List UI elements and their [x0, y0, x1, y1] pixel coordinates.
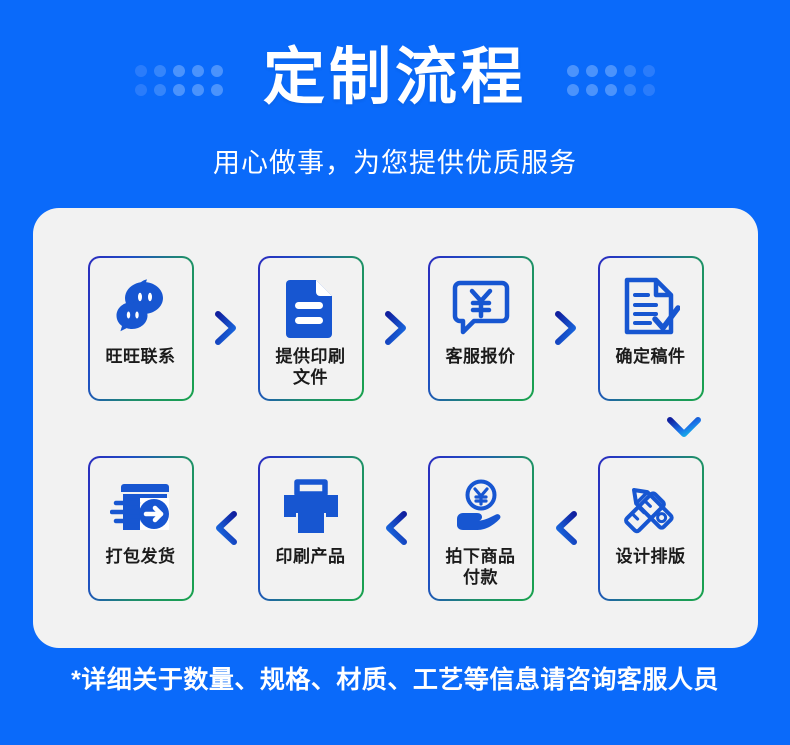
quote-bubble-yen-icon — [452, 274, 510, 340]
promo-banner: 定制流程 用心做事，为您提供优质服务 — [0, 0, 790, 745]
package-shipping-icon — [110, 474, 172, 540]
chevron-left-icon — [553, 511, 579, 545]
document-icon — [284, 274, 338, 340]
flow-step-quote[interactable]: 客服报价 — [428, 256, 534, 401]
flow-step-label: 旺旺联系 — [106, 346, 176, 367]
flow-separator-1 — [194, 256, 258, 401]
header-section: 定制流程 用心做事，为您提供优质服务 — [0, 0, 790, 200]
flow-step-label: 印刷产品 — [276, 546, 346, 567]
chevron-right-icon — [553, 311, 579, 345]
chevron-down-icon — [666, 415, 702, 441]
page-subtitle: 用心做事，为您提供优质服务 — [0, 141, 790, 180]
decorative-dot-grid-left — [135, 65, 223, 96]
flow-separator-4 — [194, 456, 258, 601]
printer-icon — [280, 474, 342, 540]
title-row: 定制流程 — [0, 20, 790, 135]
decorative-dot-grid-right — [567, 65, 655, 96]
flow-step-label: 提供印刷 文件 — [276, 346, 346, 389]
flow-row-2: 打包发货 — [33, 453, 758, 603]
flow-step-packing-shipping[interactable]: 打包发货 — [88, 456, 194, 601]
flow-step-inner: 拍下商品 付款 — [430, 458, 532, 599]
flow-step-inner: 客服报价 — [430, 258, 532, 399]
flow-step-print-product[interactable]: 印刷产品 — [258, 456, 364, 601]
flow-step-inner: 确定稿件 — [600, 258, 702, 399]
chevron-right-icon — [213, 311, 239, 345]
chevron-left-icon — [383, 511, 409, 545]
flow-panel: 旺旺联系 — [33, 208, 758, 648]
flow-step-wangwang[interactable]: 旺旺联系 — [88, 256, 194, 401]
flow-step-inner: 旺旺联系 — [90, 258, 192, 399]
chevron-right-icon — [383, 311, 409, 345]
flow-step-inner: 印刷产品 — [260, 458, 362, 599]
flow-step-label: 设计排版 — [616, 546, 686, 567]
flow-step-design-layout[interactable]: 设计排版 — [598, 456, 704, 601]
wangwang-chat-icon — [110, 274, 172, 340]
flow-step-label: 确定稿件 — [616, 346, 686, 367]
flow-step-label: 打包发货 — [106, 546, 176, 567]
flow-step-inner: 提供印刷 文件 — [260, 258, 362, 399]
flow-step-place-order-payment[interactable]: 拍下商品 付款 — [428, 456, 534, 601]
flow-separator-2 — [364, 256, 428, 401]
flow-row-1: 旺旺联系 — [33, 253, 758, 403]
flow-step-confirm-draft[interactable]: 确定稿件 — [598, 256, 704, 401]
flow-separator-down — [631, 403, 737, 453]
chevron-left-icon — [213, 511, 239, 545]
pencil-ruler-icon — [621, 474, 681, 540]
flow-step-provide-files[interactable]: 提供印刷 文件 — [258, 256, 364, 401]
flow-step-label: 客服报价 — [446, 346, 516, 367]
footer-note: *详细关于数量、规格、材质、工艺等信息请咨询客服人员 — [0, 660, 790, 696]
flow-step-inner: 设计排版 — [600, 458, 702, 599]
flow-separator-6 — [534, 456, 598, 601]
flow-step-label: 拍下商品 付款 — [446, 546, 516, 589]
document-check-icon — [622, 274, 680, 340]
flow-step-inner: 打包发货 — [90, 458, 192, 599]
page-title: 定制流程 — [263, 47, 527, 109]
flow-separator-3 — [534, 256, 598, 401]
hand-yen-coin-icon — [450, 474, 512, 540]
flow-separator-5 — [364, 456, 428, 601]
